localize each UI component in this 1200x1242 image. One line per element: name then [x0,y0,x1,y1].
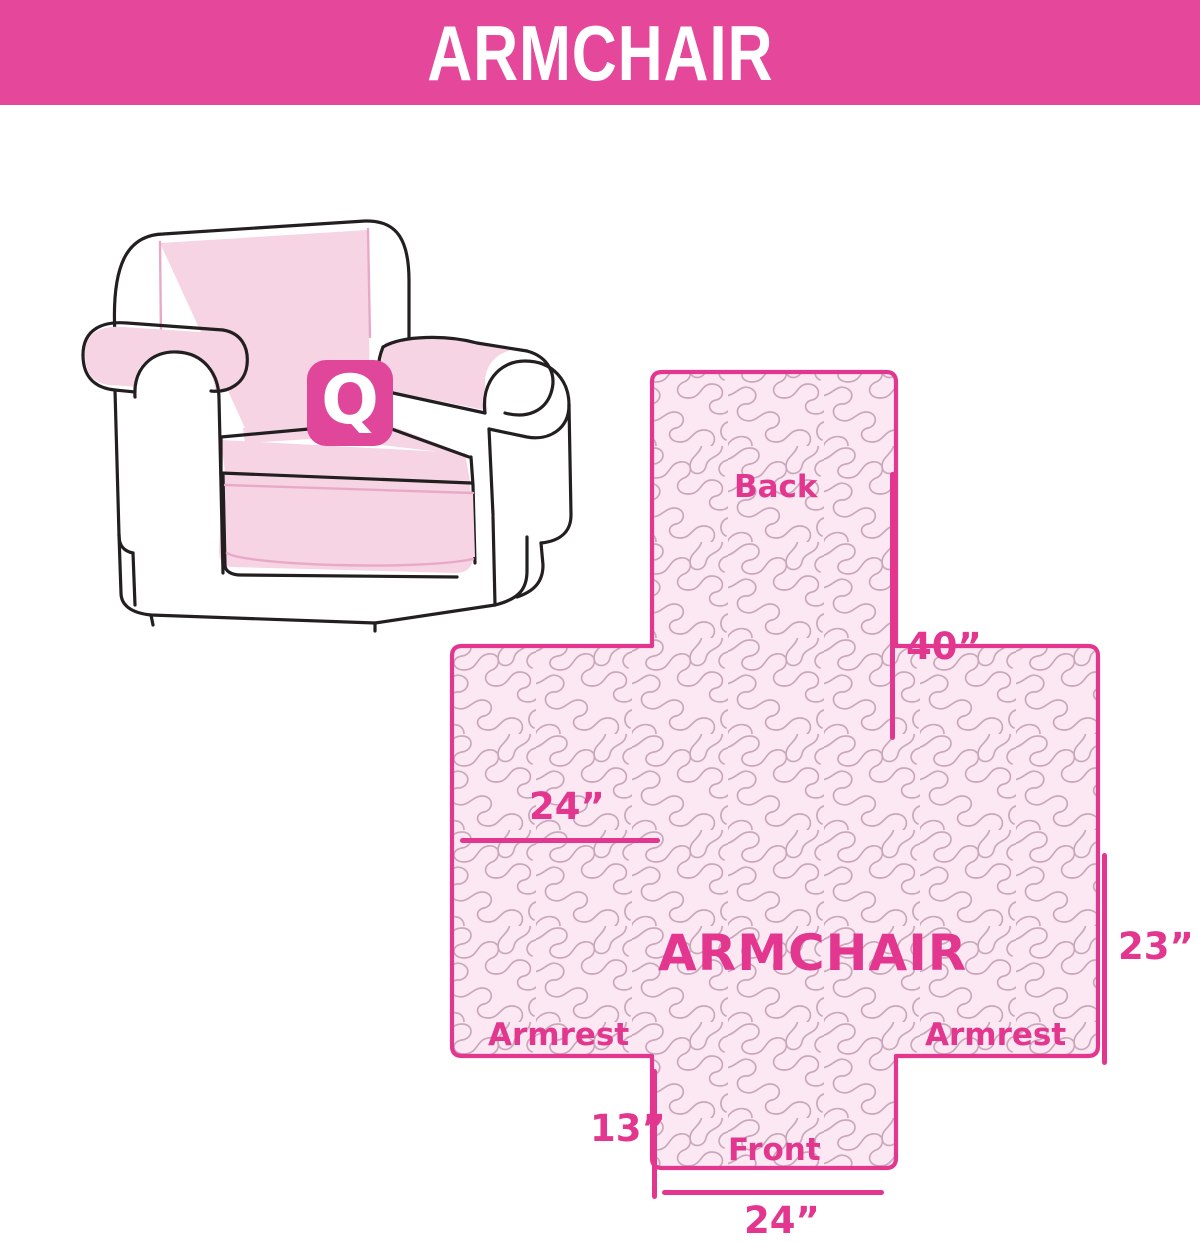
dimension-label-front-height: 13” [590,1110,666,1147]
brand-logo-letter: Q [321,367,379,435]
dimension-label-back-height: 40” [906,628,982,665]
dimension-rule-back-height [890,472,895,740]
page-title: ARMCHAIR [427,14,773,92]
dimension-rule-front-width [662,1190,884,1195]
main-canvas: Q [0,105,1200,1200]
diagram-center-label: ARMCHAIR [658,928,967,978]
section-label-back: Back [734,472,818,503]
dimension-label-seat-depth: 23” [1118,928,1194,965]
section-label-armrest-right: Armrest [925,1020,1066,1051]
cover-layout-diagram: Back Armrest Armrest Front ARMCHAIR 40” … [440,350,1180,1200]
section-label-front: Front [728,1135,821,1166]
dimension-rule-armrest-width [460,838,660,843]
header-banner: ARMCHAIR [0,0,1200,105]
dimension-label-armrest-width: 24” [529,788,605,825]
dimension-rule-seat-depth [1102,853,1107,1065]
dimension-label-front-width: 24” [744,1202,820,1239]
brand-logo-badge: Q [307,360,393,446]
section-label-armrest-left: Armrest [488,1020,629,1051]
